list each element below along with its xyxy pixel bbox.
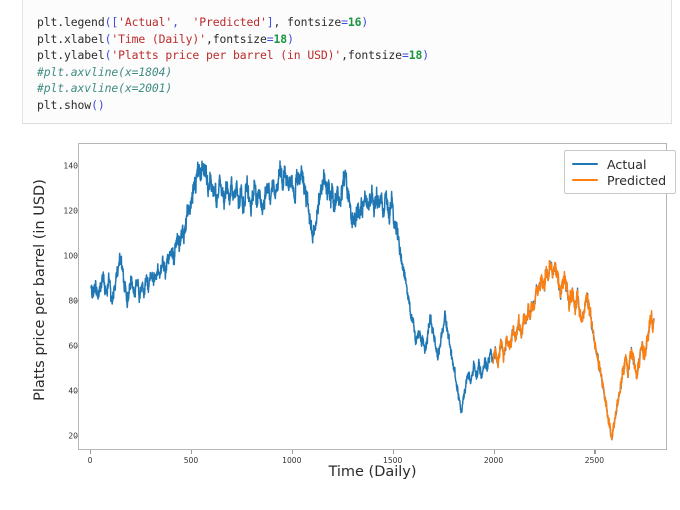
y-tick-label: 80 <box>44 297 78 306</box>
y-tick-label: 40 <box>44 387 78 396</box>
code-token-str: 'Predicted' <box>192 15 266 29</box>
y-tick-label: 120 <box>44 206 78 215</box>
code-token-plain: plt.xlabel <box>37 32 105 46</box>
x-tick-mark <box>393 450 394 454</box>
legend-swatch-predicted <box>572 179 598 181</box>
code-token-num: 16 <box>348 15 362 29</box>
code-line: plt.xlabel('Time (Daily)',fontsize=18) <box>37 31 671 48</box>
y-tick-label: 20 <box>44 432 78 441</box>
screenshot-root: plt.legend(['Actual', 'Predicted'], font… <box>0 0 680 510</box>
y-tick-label: 60 <box>44 342 78 351</box>
code-token-str: 'Platts price per barrel (in USD)' <box>111 48 341 62</box>
code-token-plain: ,fontsize <box>206 32 267 46</box>
code-token-plain: , fontsize <box>274 15 342 29</box>
series-line-predicted <box>493 261 654 440</box>
y-tick-label: 140 <box>44 161 78 170</box>
legend-entry-actual: Actual <box>572 156 666 172</box>
code-token-plain <box>179 15 193 29</box>
x-tick-mark <box>594 450 595 454</box>
code-token-punct: ] <box>267 15 274 29</box>
y-tick-label: 100 <box>44 251 78 260</box>
code-token-plain: plt.show <box>37 98 91 112</box>
plot-area: Actual Predicted <box>78 143 667 450</box>
code-line: plt.ylabel('Platts price per barrel (in … <box>37 47 671 64</box>
code-token-punct: = <box>267 32 274 46</box>
code-token-plain: plt.legend <box>37 15 105 29</box>
code-token-punct: ) <box>422 48 429 62</box>
code-token-punct: = <box>402 48 409 62</box>
code-line: plt.show() <box>37 97 671 114</box>
code-lines: plt.legend(['Actual', 'Predicted'], font… <box>37 14 671 114</box>
legend-label-actual: Actual <box>607 157 646 172</box>
x-tick-mark <box>90 450 91 454</box>
code-token-comment: #plt.axvline(x=1804) <box>37 65 172 79</box>
code-token-num: 18 <box>274 32 288 46</box>
code-token-punct: () <box>91 98 105 112</box>
legend-label-predicted: Predicted <box>607 173 666 188</box>
code-token-comment: #plt.axvline(x=2001) <box>37 81 172 95</box>
code-token-punct: = <box>341 15 348 29</box>
code-token-plain: ,fontsize <box>341 48 402 62</box>
code-token-plain: plt.ylabel <box>37 48 105 62</box>
code-token-punct: ) <box>361 15 368 29</box>
code-token-punct: ) <box>287 32 294 46</box>
code-token-str: 'Time (Daily)' <box>111 32 206 46</box>
chart-legend[interactable]: Actual Predicted <box>564 150 676 194</box>
legend-entry-predicted: Predicted <box>572 172 666 188</box>
matplotlib-figure: 20406080100120140 Platts price per barre… <box>0 124 680 510</box>
code-token-str: 'Actual' <box>118 15 172 29</box>
x-tick-mark <box>292 450 293 454</box>
code-token-num: 18 <box>409 48 423 62</box>
x-tick-mark <box>191 450 192 454</box>
x-axis-label: Time (Daily) <box>78 464 667 480</box>
code-token-punct: , <box>172 15 179 29</box>
code-cell[interactable]: plt.legend(['Actual', 'Predicted'], font… <box>22 0 672 124</box>
y-axis-label: Platts price per barrel (in USD) <box>32 140 48 440</box>
code-token-punct: ([ <box>105 15 119 29</box>
legend-swatch-actual <box>572 163 598 165</box>
x-tick-mark <box>494 450 495 454</box>
code-line: #plt.axvline(x=2001) <box>37 80 671 97</box>
code-line: #plt.axvline(x=1804) <box>37 64 671 81</box>
code-line: plt.legend(['Actual', 'Predicted'], font… <box>37 14 671 31</box>
